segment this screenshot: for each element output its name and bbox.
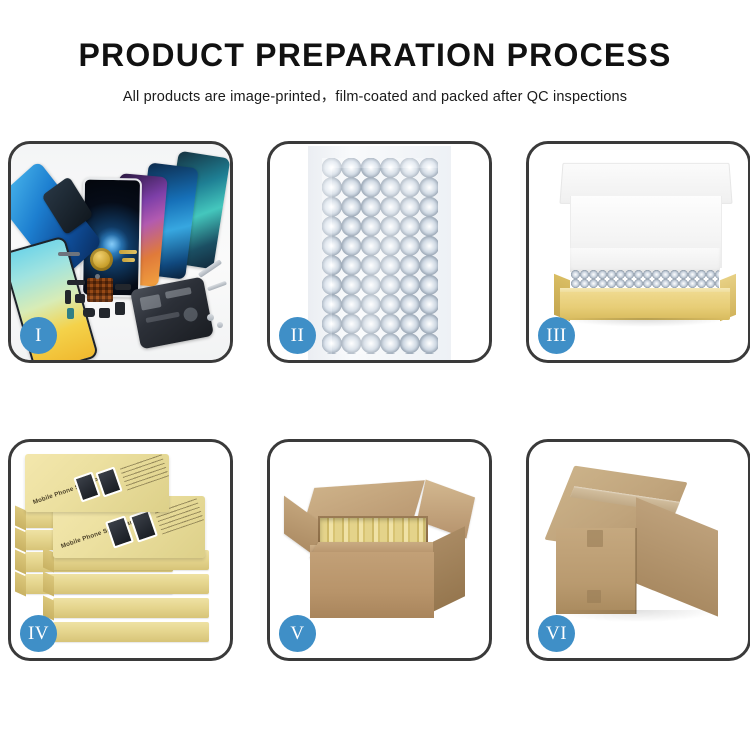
process-step-6[interactable]: VI bbox=[526, 439, 750, 661]
box-front-wall bbox=[560, 292, 730, 320]
screw bbox=[207, 314, 214, 321]
step-badge-6: VI bbox=[538, 615, 575, 652]
page-title: PRODUCT PREPARATION PROCESS bbox=[0, 0, 750, 74]
process-step-3[interactable]: III bbox=[526, 141, 750, 363]
spare-part-strip bbox=[58, 252, 80, 256]
spare-part-camera bbox=[83, 308, 95, 317]
spare-part-bracket bbox=[75, 294, 85, 303]
foam-padding bbox=[570, 248, 720, 272]
step-badge-4: IV bbox=[20, 615, 57, 652]
box-shadow bbox=[563, 318, 727, 327]
retail-box-top-rear: Mobile Phone Spare Parts bbox=[25, 454, 169, 512]
process-step-1[interactable]: I bbox=[8, 141, 233, 363]
process-step-2[interactable]: II bbox=[267, 141, 492, 363]
step-badge-1: I bbox=[20, 317, 57, 354]
retail-box bbox=[53, 598, 209, 618]
spare-part-connector bbox=[67, 280, 85, 285]
retail-box bbox=[53, 574, 209, 594]
carton-front-face bbox=[310, 552, 434, 618]
process-step-5[interactable]: V bbox=[267, 439, 492, 661]
box-artwork-screen bbox=[129, 509, 158, 542]
carton-vertical-edge bbox=[635, 528, 637, 614]
bubble-wrap-bubbles-offset bbox=[332, 168, 438, 354]
process-step-grid: I II III bbox=[8, 141, 742, 661]
speaker-coil-part bbox=[90, 248, 113, 271]
carton-tab-upper bbox=[587, 530, 603, 547]
carton-tab-lower bbox=[587, 590, 601, 603]
page-subtitle: All products are image-printed，film-coat… bbox=[0, 74, 750, 106]
spare-part-module bbox=[115, 302, 125, 315]
spare-part-module bbox=[99, 308, 110, 318]
step-badge-3: III bbox=[538, 317, 575, 354]
spare-part-screw bbox=[95, 274, 100, 279]
spare-part-bracket bbox=[65, 290, 71, 304]
spare-part-flex-cable bbox=[119, 250, 137, 254]
spare-part-connector bbox=[115, 284, 131, 290]
page-header: PRODUCT PREPARATION PROCESS All products… bbox=[0, 0, 750, 106]
spare-part-flex-cable bbox=[122, 258, 135, 262]
screw-grid-part bbox=[87, 278, 113, 302]
screw bbox=[217, 322, 223, 328]
process-step-4[interactable]: Mobile Phone Spare Parts Mobile Phone Sp… bbox=[8, 439, 233, 661]
spare-part-battery bbox=[67, 308, 74, 319]
box-artwork-text-lines bbox=[119, 452, 169, 491]
carton-shadow bbox=[557, 610, 717, 622]
step-badge-5: V bbox=[279, 615, 316, 652]
retail-box bbox=[53, 622, 209, 642]
step-badge-2: II bbox=[279, 317, 316, 354]
